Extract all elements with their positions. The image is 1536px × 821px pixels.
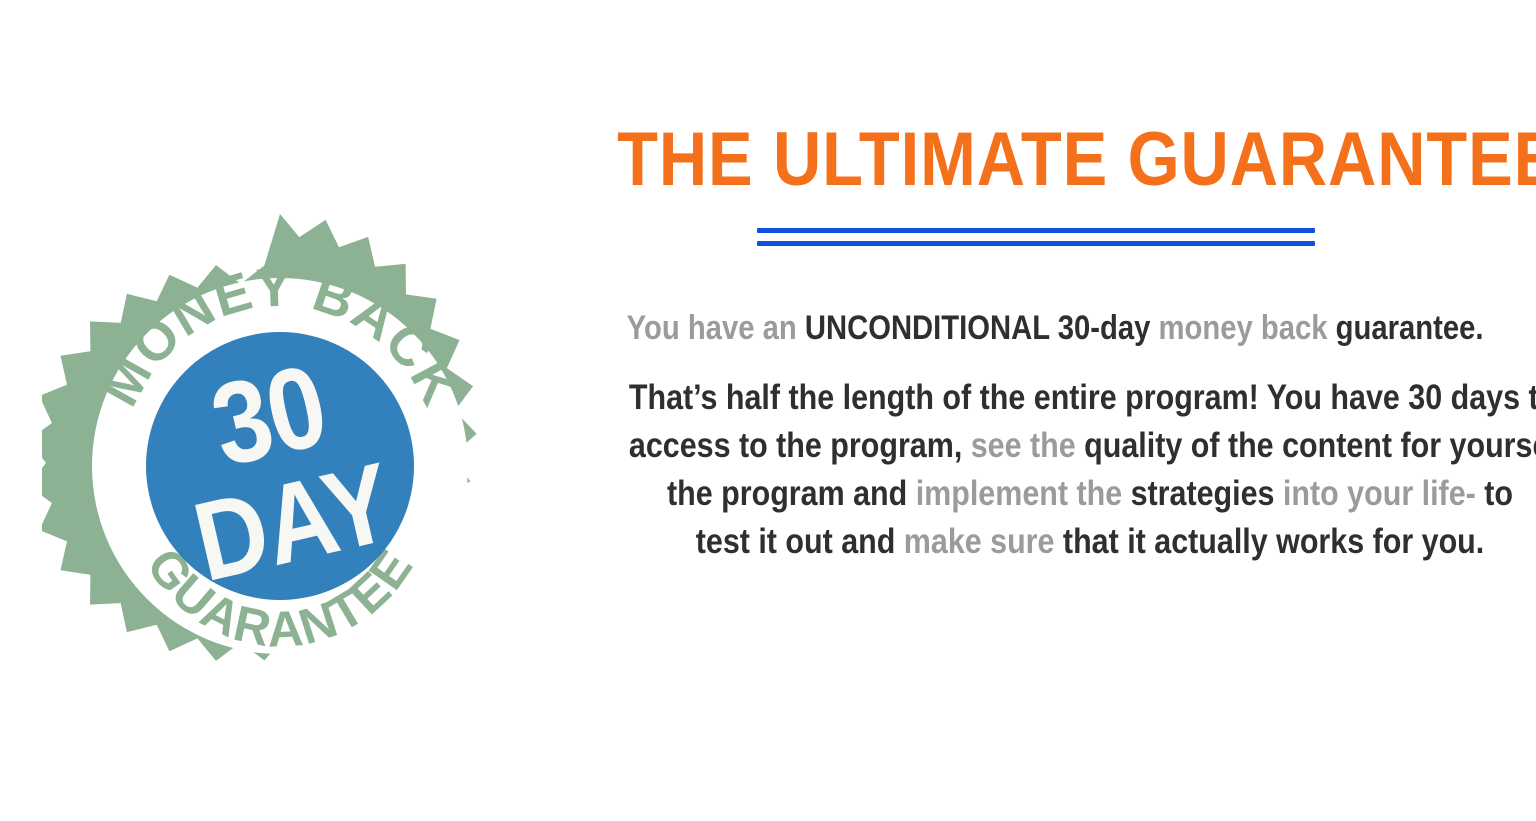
body-line-2: access to the program, see the quality o… <box>629 422 1536 470</box>
guarantee-content: THE ULTIMATE GUARANTEE You have an UNCON… <box>560 118 1512 566</box>
body-line-4-segment-b: make sure <box>904 522 1063 561</box>
divider-line-bottom <box>757 241 1315 246</box>
guarantee-body: That’s half the length of the entire pro… <box>629 374 1536 566</box>
lede-segment-4: guarantee. <box>1336 309 1484 347</box>
body-line-2-segment-b: see the <box>962 426 1084 465</box>
badge-graphic: MONEY BACK GUARANTEE 30 DAY <box>42 210 518 722</box>
body-line-2-segment-c: quality of the content for yourself, USE <box>1084 426 1536 465</box>
guarantee-page: MONEY BACK GUARANTEE 30 DAY THE ULTIMATE… <box>0 0 1536 821</box>
body-line-4: test it out and make sure that it actual… <box>629 518 1536 566</box>
body-line-3: the program and implement the strategies… <box>629 470 1536 518</box>
body-line-1-segment-a: That’s half the length of the entire pro… <box>629 378 1536 417</box>
page-title: THE ULTIMATE GUARANTEE <box>617 118 1455 202</box>
body-line-4-segment-c: that it actually works for you. <box>1063 522 1484 561</box>
money-back-guarantee-badge: MONEY BACK GUARANTEE 30 DAY <box>42 210 518 722</box>
guarantee-lede: You have an UNCONDITIONAL 30-day money b… <box>627 308 1446 348</box>
body-line-1: That’s half the length of the entire pro… <box>629 374 1536 422</box>
body-line-3-segment-e: to <box>1476 474 1513 513</box>
title-divider <box>757 228 1315 250</box>
body-line-2-segment-a: access to the program, <box>629 426 962 465</box>
lede-segment-1: You have an <box>627 309 805 347</box>
body-line-3-segment-d: into your life- <box>1274 474 1475 513</box>
body-line-4-segment-a: test it out and <box>696 522 904 561</box>
body-line-3-segment-a: the program and <box>667 474 916 513</box>
lede-segment-2: UNCONDITIONAL 30-day <box>805 309 1151 347</box>
body-line-3-segment-b: implement the <box>916 474 1131 513</box>
divider-line-top <box>757 228 1315 233</box>
lede-segment-3: money back <box>1150 309 1335 347</box>
body-line-3-segment-c: strategies <box>1131 474 1275 513</box>
